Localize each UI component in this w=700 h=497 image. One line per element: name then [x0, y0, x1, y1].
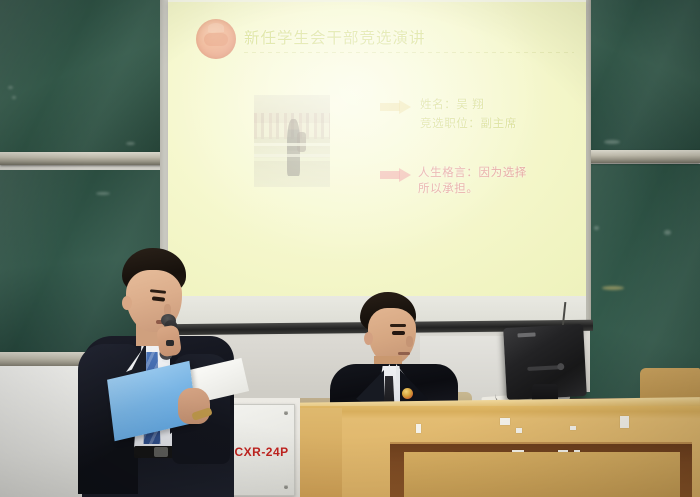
chalk-mark [664, 230, 671, 235]
chalkboard-sheen [0, 0, 172, 158]
standing-speaker [78, 248, 246, 497]
arrow-bar [380, 171, 400, 179]
arrow-bar [380, 103, 400, 111]
photo-railing-lower [254, 154, 330, 157]
speaker-ear [122, 296, 132, 310]
paper-scrap [516, 428, 522, 433]
panel-screw [284, 411, 288, 415]
paper-scrap [416, 424, 421, 433]
student-union-emblem-icon [196, 19, 236, 59]
chalk-mark [604, 140, 620, 144]
photo-railing [254, 143, 330, 146]
lcd-monitor [505, 326, 585, 402]
seated-man [330, 292, 458, 410]
seated-man-lapel-badge [402, 388, 413, 399]
arrow-head [399, 168, 411, 182]
chalk-mark [594, 226, 599, 230]
paper-scrap [570, 426, 576, 430]
monitor-logo [517, 332, 535, 337]
chalk-mark [96, 192, 110, 195]
slide-title: 新任学生会干部竞选演讲 [244, 26, 426, 48]
seated-man-ear [364, 332, 373, 345]
classroom-photo: 新任学生会干部竞选演讲 [0, 0, 700, 497]
slide-field-name: 姓名：吴 翔 [420, 96, 484, 112]
chalk-mark [12, 96, 16, 99]
panel-screw [284, 485, 288, 489]
chalk-mark [602, 286, 624, 290]
speaker-finger-ring [166, 340, 174, 346]
speaker-belt-buckle [154, 447, 168, 457]
slide-header: 新任学生会干部竞选演讲 [182, 16, 574, 60]
seated-man-eye [392, 331, 405, 335]
slide-candidate-photo [254, 95, 330, 187]
chalkboard-upper-left [0, 0, 172, 158]
seated-man-mouth [398, 352, 410, 355]
slide-field-position: 竞选职位：副主席 [420, 115, 517, 131]
monitor-mount-hole [557, 363, 564, 370]
slide-motto: 人生格言：因为选择所以承担。 [418, 165, 530, 197]
paper-scrap [500, 418, 510, 425]
slide-title-divider [244, 52, 574, 53]
seated-man-eyebrow [390, 324, 406, 327]
arrow-head [399, 100, 411, 114]
seated-man-nose [406, 336, 413, 347]
paper-scrap [620, 416, 629, 428]
chalk-tray-upper-left [0, 152, 176, 165]
chalk-mark [8, 86, 13, 89]
chalk-mark [126, 142, 135, 145]
podium-panel-inner [404, 452, 680, 497]
